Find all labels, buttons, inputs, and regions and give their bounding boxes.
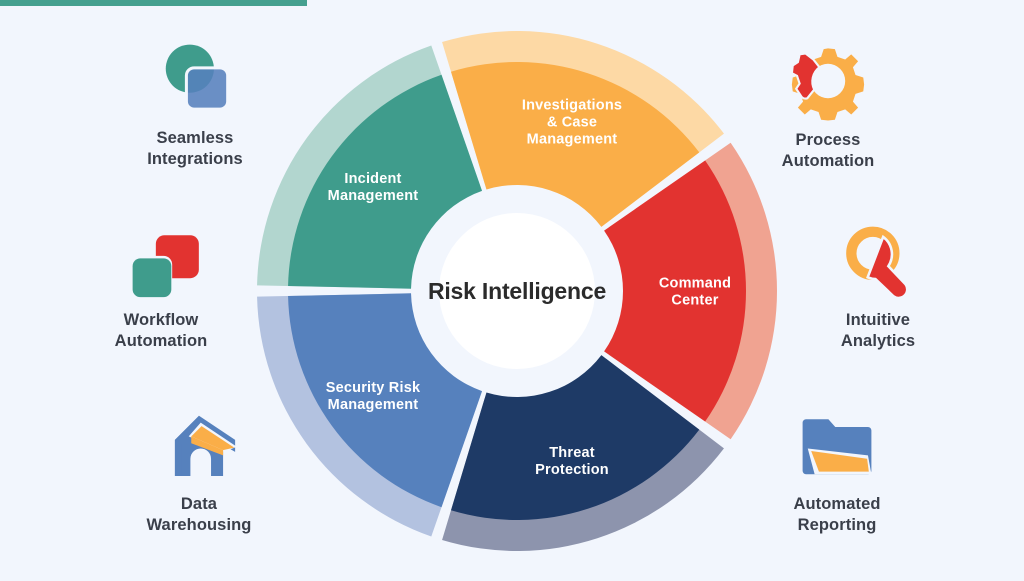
feature-label: Seamless Integrations xyxy=(147,128,243,170)
folder-icon xyxy=(794,402,880,488)
feature-seamless-integrations[interactable]: Seamless Integrations xyxy=(100,36,290,170)
feature-data-warehousing[interactable]: Data Warehousing xyxy=(104,402,294,536)
feature-label: Process Automation xyxy=(782,130,875,172)
two-rounded-squares-icon xyxy=(118,218,204,304)
wheel-segment-label-security-risk-management: Security RiskManagement xyxy=(326,380,421,413)
feature-label: Automated Reporting xyxy=(793,494,880,536)
feature-label: Intuitive Analytics xyxy=(841,310,915,352)
gear-icon xyxy=(785,38,871,124)
feature-process-automation[interactable]: Process Automation xyxy=(733,38,923,172)
feature-intuitive-analytics[interactable]: Intuitive Analytics xyxy=(783,218,973,352)
feature-automated-reporting[interactable]: Automated Reporting xyxy=(742,402,932,536)
feature-label: Workflow Automation xyxy=(115,310,208,352)
circle-square-overlap-icon xyxy=(152,36,238,122)
wheel-hub-label: Risk Intelligence xyxy=(428,278,606,304)
warehouse-house-icon xyxy=(156,402,242,488)
magnifying-glass-icon xyxy=(835,218,921,304)
risk-intelligence-wheel-diagram: IncidentManagementInvestigations& CaseMa… xyxy=(0,0,1024,581)
feature-label: Data Warehousing xyxy=(147,494,252,536)
feature-workflow-automation[interactable]: Workflow Automation xyxy=(66,218,256,352)
